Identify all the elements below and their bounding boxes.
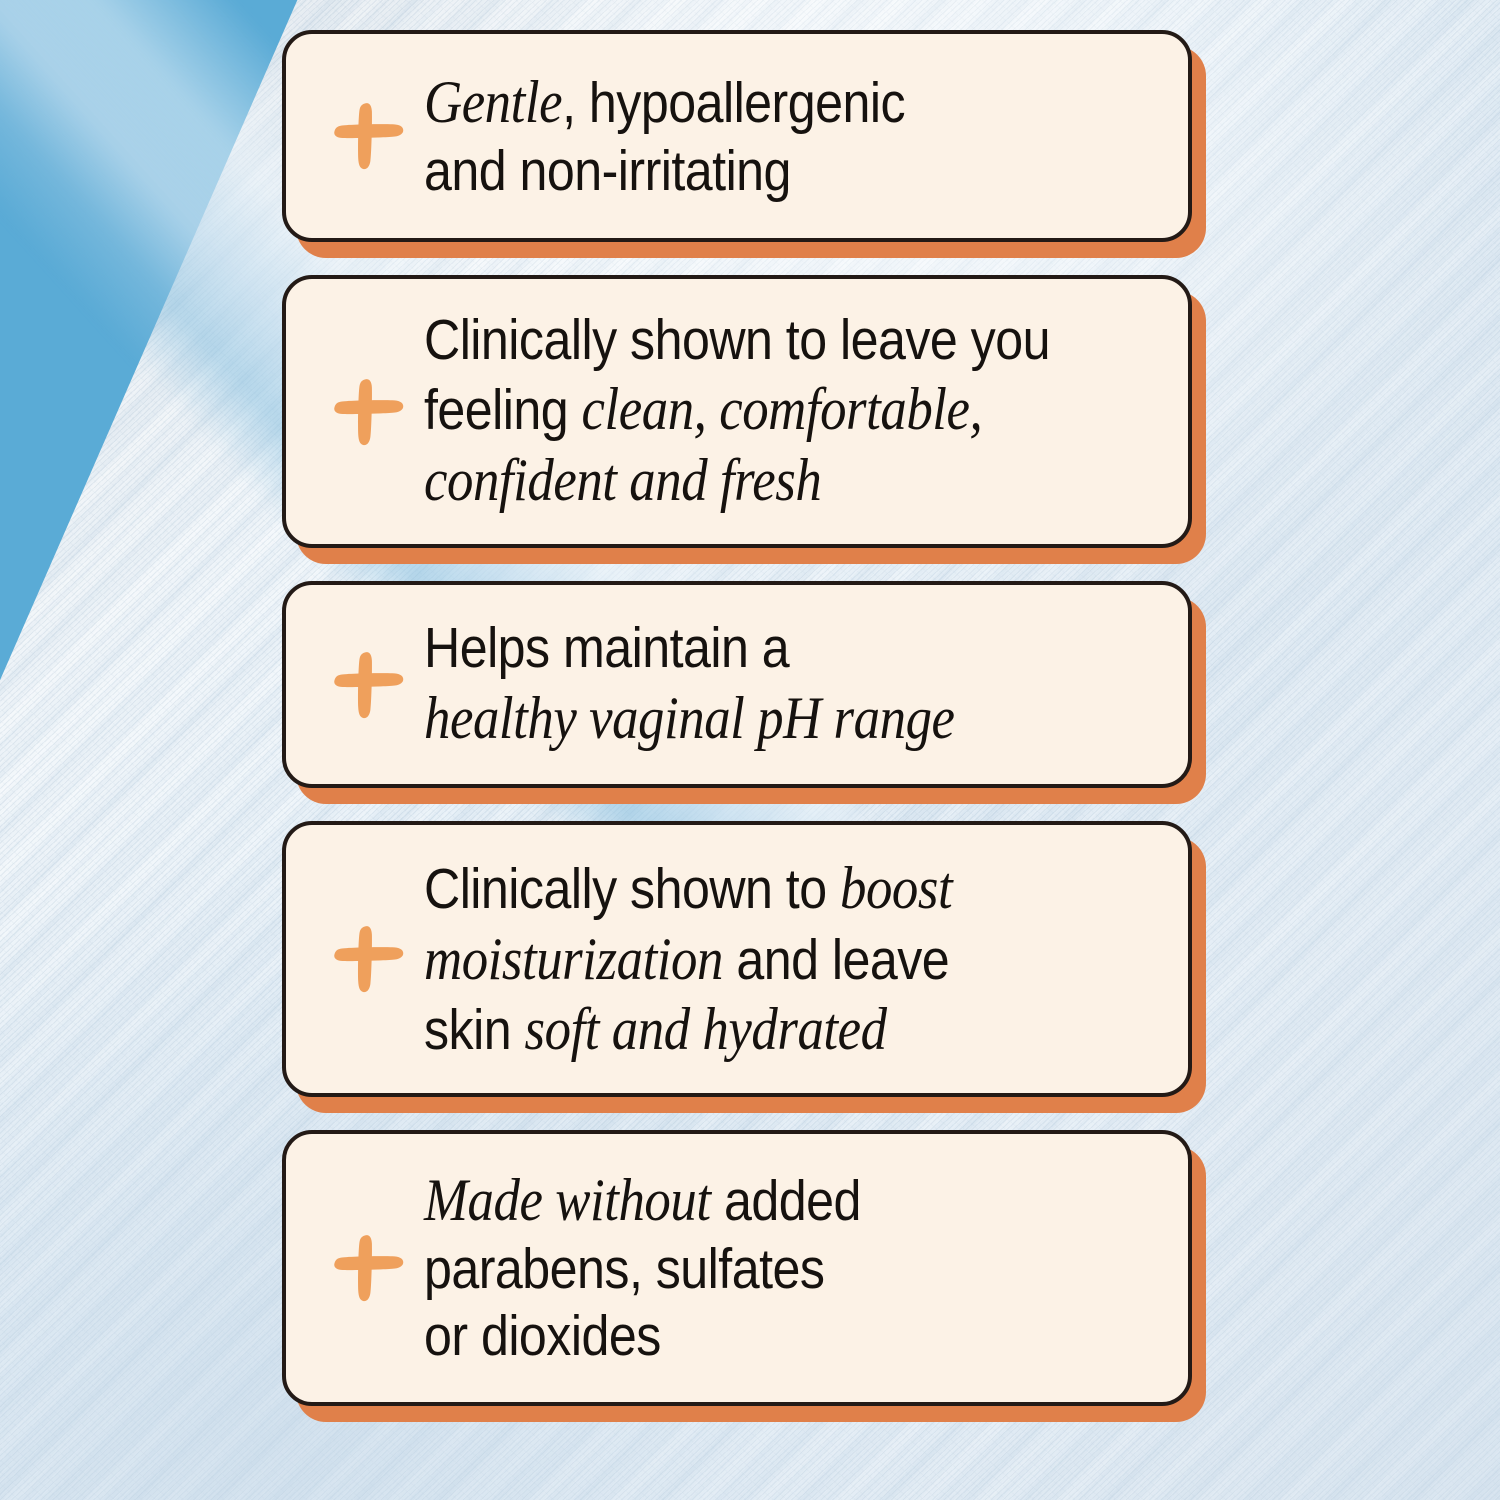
benefit-text-normal: parabens, sulfates [424,1237,824,1301]
benefit-card-body: Helps maintain a healthy vaginal pH rang… [282,581,1192,788]
benefit-card-5: Made without added parabens, sulfates or… [282,1130,1192,1406]
benefit-card-body: Clinically shown to leave you feeling cl… [282,275,1192,548]
benefit-text-italic: Made without [424,1167,711,1233]
benefit-card-3: Helps maintain a healthy vaginal pH rang… [282,581,1192,788]
benefit-card-2: Clinically shown to leave you feeling cl… [282,275,1192,548]
benefit-text-italic: healthy vaginal pH range [424,685,955,751]
benefit-text-italic: confident and fresh [424,447,821,513]
benefit-text-normal: feeling [424,378,582,442]
benefit-text-italic: clean, comfortable, [582,376,983,442]
benefit-text: Helps maintain a healthy vaginal pH rang… [424,609,1072,759]
plus-icon [327,646,405,724]
benefit-card-body: Gentle, hypoallergenic and non-irritatin… [282,30,1192,242]
plus-icon-slot [318,88,414,184]
benefit-text-normal: skin [424,998,524,1062]
benefits-list: Gentle, hypoallergenic and non-irritatin… [282,30,1192,1406]
plus-icon-slot [318,911,414,1007]
benefit-text: Clinically shown to boost moisturization… [424,847,1072,1071]
benefit-text-normal: or dioxides [424,1304,661,1368]
benefit-text-normal: Clinically shown to leave you [424,308,1050,372]
plus-icon [327,920,405,998]
benefit-text-italic: boost [840,855,952,921]
benefit-text-normal: Helps maintain a [424,616,789,680]
benefit-text-normal: added [711,1169,861,1233]
plus-icon [327,97,405,175]
benefit-text-normal: and non-irritating [424,139,791,203]
benefit-text-normal: Clinically shown to [424,857,840,921]
benefit-card-body: Made without added parabens, sulfates or… [282,1130,1192,1406]
benefit-text: Gentle, hypoallergenic and non-irritatin… [424,61,1072,211]
benefit-text: Made without added parabens, sulfates or… [424,1159,1072,1376]
benefit-card-4: Clinically shown to boost moisturization… [282,821,1192,1097]
benefit-card-1: Gentle, hypoallergenic and non-irritatin… [282,30,1192,242]
plus-icon-slot [318,1220,414,1316]
product-benefits-graphic: Gentle, hypoallergenic and non-irritatin… [0,0,1500,1500]
plus-icon-slot [318,364,414,460]
plus-icon [327,373,405,451]
benefit-text-normal: and leave [723,928,949,992]
benefit-text: Clinically shown to leave you feeling cl… [424,301,1072,522]
benefit-text-italic: moisturization [424,926,723,992]
plus-icon-slot [318,637,414,733]
benefit-text-italic: soft and hydrated [524,996,886,1062]
plus-icon [327,1229,405,1307]
benefit-text-italic: Gentle [424,69,562,135]
benefit-text-normal: , hypoallergenic [562,71,905,135]
benefit-card-body: Clinically shown to boost moisturization… [282,821,1192,1097]
